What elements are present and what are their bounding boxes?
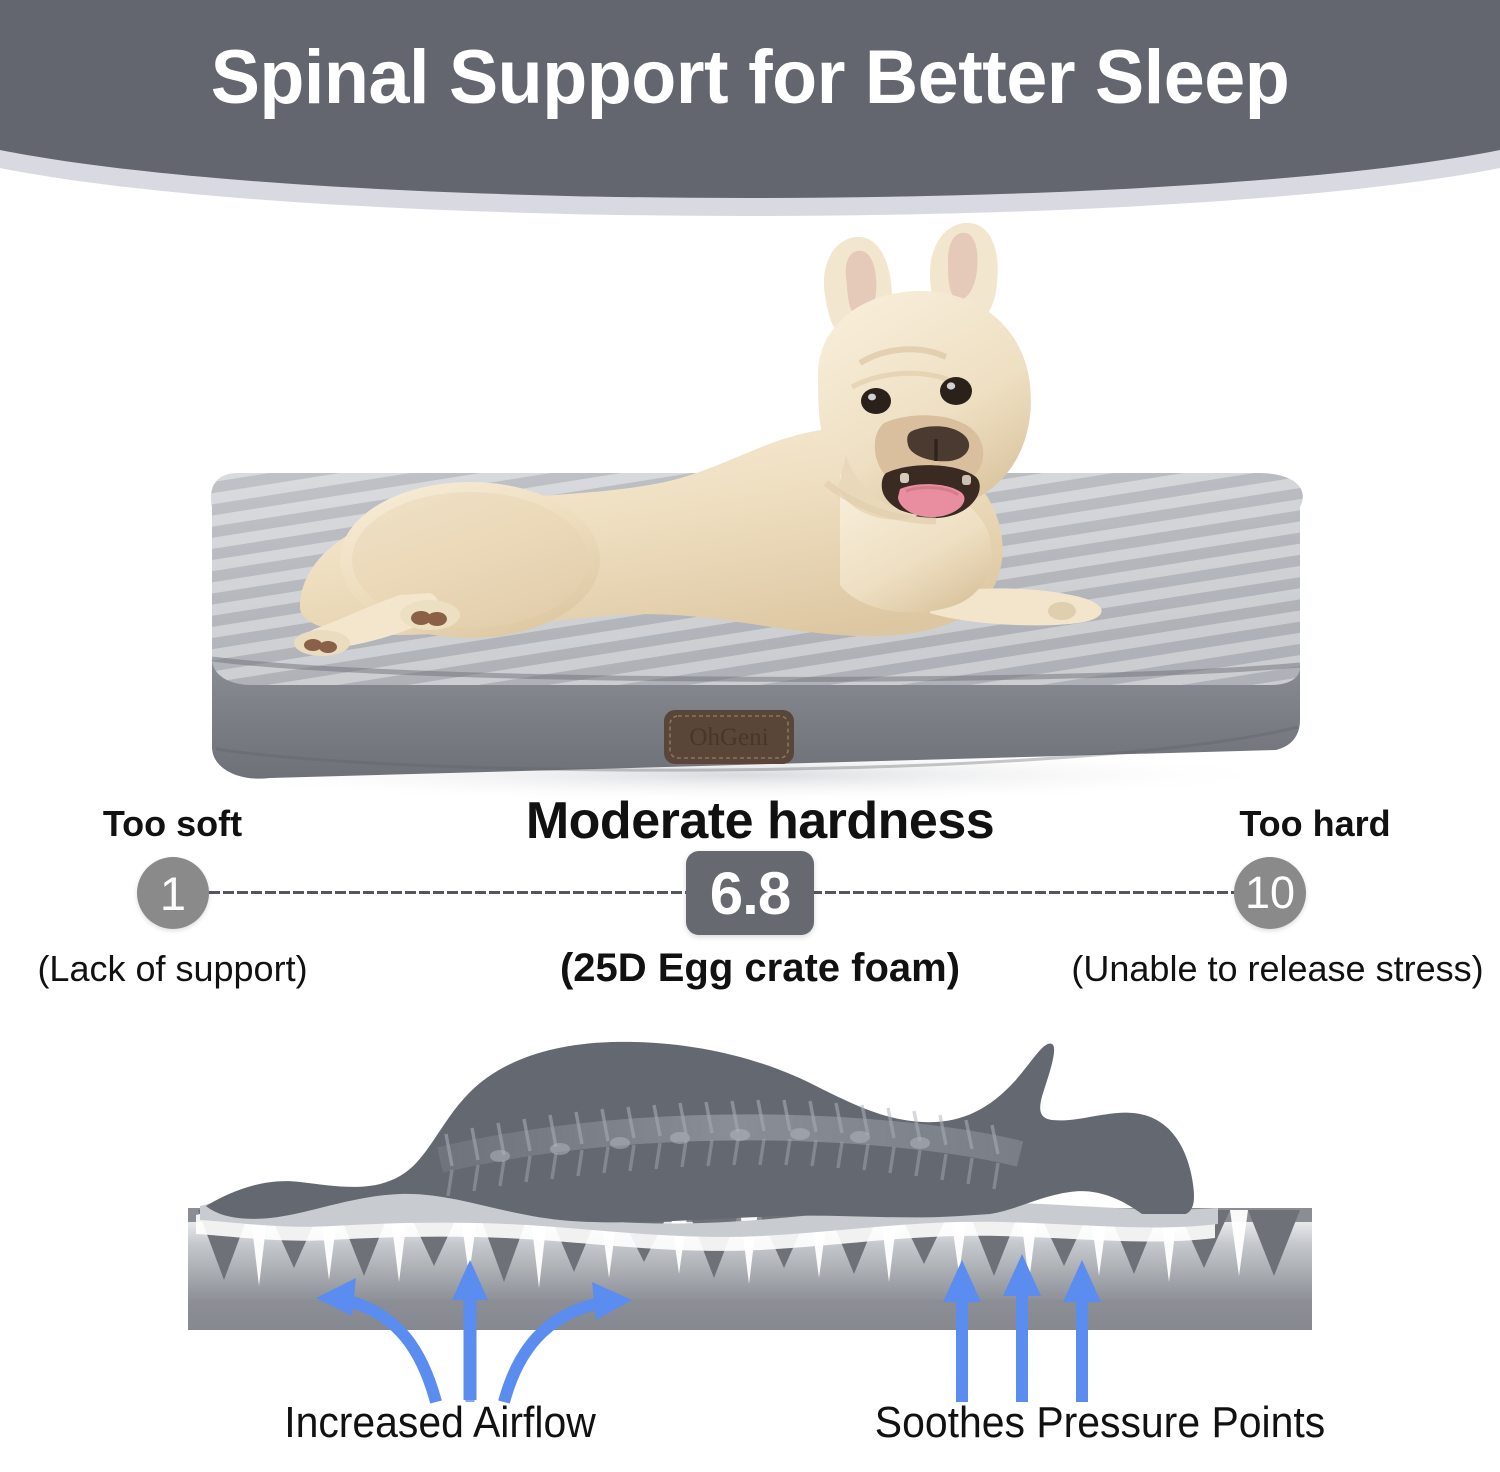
- dog-head: [818, 223, 1031, 520]
- brand-label-patch: OhGeni: [664, 710, 794, 764]
- scale-caption-hard: (Unable to release stress): [1055, 948, 1500, 990]
- product-photo: OhGeni: [0, 215, 1500, 800]
- foam-cross-section-diagram: [0, 1010, 1500, 1410]
- dog-eye-right: [940, 377, 972, 405]
- page-title: Spinal Support for Better Sleep: [23, 34, 1478, 121]
- caption-pressure-points: Soothes Pressure Points: [784, 1398, 1416, 1448]
- arrow-tails: [470, 1330, 1082, 1402]
- cross-section-illustration: [0, 1010, 1500, 1410]
- scale-heading-moderate: Moderate hardness: [460, 791, 1060, 851]
- scale-heading-hard: Too hard: [1180, 803, 1450, 845]
- scale-marker-min: 1: [137, 857, 209, 929]
- dog-illustration: [294, 223, 1102, 656]
- scale-marker-rating: 6.8: [686, 851, 814, 935]
- scale-caption-soft: (Lack of support): [0, 948, 345, 990]
- dog-eye-left: [861, 388, 891, 414]
- scale-marker-max: 10: [1234, 857, 1306, 929]
- scale-caption-moderate: (25D Egg crate foam): [455, 946, 1065, 991]
- dog-paw-rear: [400, 600, 460, 630]
- header-banner: Spinal Support for Better Sleep: [0, 0, 1500, 230]
- dog-on-bed-illustration: OhGeni: [0, 215, 1500, 800]
- hardness-scale: Too soft Moderate hardness Too hard 1 6.…: [0, 795, 1500, 1010]
- brand-label-text: OhGeni: [689, 724, 768, 751]
- caption-increased-airflow: Increased Airflow: [161, 1398, 719, 1448]
- dog-paw-left: [294, 630, 350, 656]
- scale-heading-soft: Too soft: [40, 803, 305, 845]
